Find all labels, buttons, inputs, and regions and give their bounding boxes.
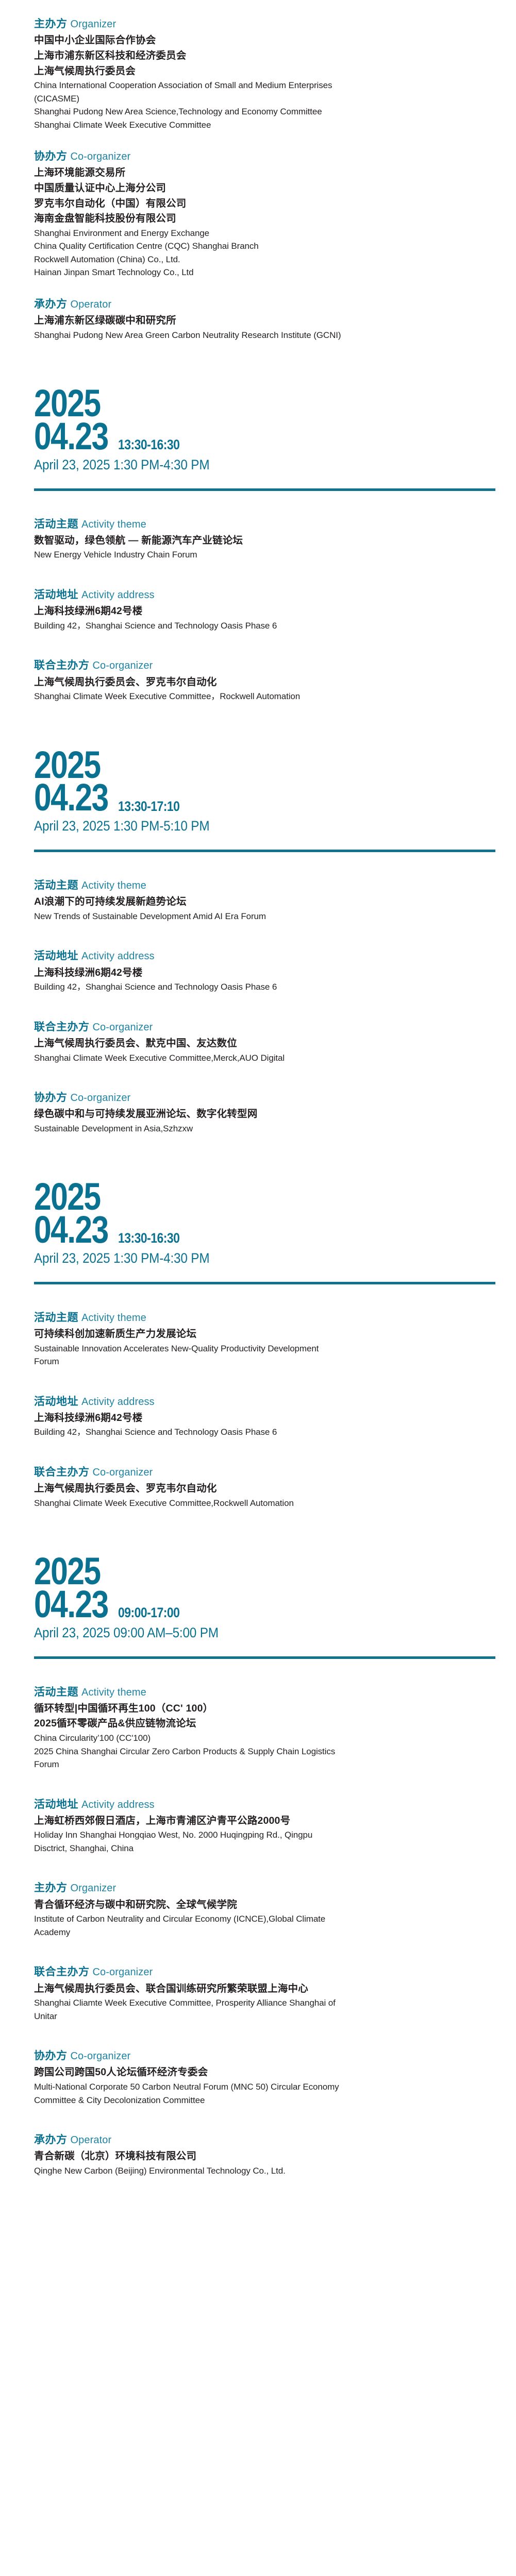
session-2-date: 2025 04.23 13:30-17:10 April 23, 2025 1:… (34, 749, 485, 834)
session-2-divider (34, 850, 495, 852)
session-4-group-1-en-0: Shanghai Cliamte Week Executive Committe… (34, 1996, 485, 2010)
session-1-group-0-label: 联合主办方Co-organizer (34, 659, 485, 672)
session-2-theme-en-0: New Trends of Sustainable Development Am… (34, 910, 485, 923)
session-3-theme-en-1: Forum (34, 1355, 485, 1368)
session-2-group-0-label-en: Co-organizer (93, 1022, 153, 1033)
organizer-cn-0: 中国中小企业国际合作协会 (34, 33, 485, 48)
session-3-address-label-cn: 活动地址 (34, 1396, 78, 1408)
session-4-theme-en-0: China Circularity’100 (CC'100) (34, 1732, 485, 1745)
session-1-group-0-en-0: Shanghai Climate Week Executive Committe… (34, 690, 485, 703)
organizer-section: 主办方Organizer 中国中小企业国际合作协会 上海市浦东新区科技和经济委员… (34, 18, 485, 131)
session-1-date-row: 04.23 13:30-16:30 (34, 420, 485, 453)
session-2-group-0-cn-0: 上海气候周执行委员会、默克中国、友达数位 (34, 1036, 485, 1052)
session-3-theme-label: 活动主题Activity theme (34, 1311, 485, 1325)
event-schedule-page: 主办方Organizer 中国中小企业国际合作协会 上海市浦东新区科技和经济委员… (0, 0, 516, 2576)
session-3-address: 活动地址Activity address 上海科技绿洲6期42号楼 Buildi… (34, 1395, 485, 1439)
spacer (34, 282, 485, 298)
session-1-address-label: 活动地址Activity address (34, 588, 485, 602)
spacer (34, 1371, 485, 1395)
spacer (34, 2026, 485, 2049)
session-4-theme-label-en: Activity theme (81, 1687, 146, 1698)
session-4-group-1-label-cn: 联合主办方 (34, 1966, 90, 1978)
session-1-address-en-0: Building 42，Shanghai Science and Technol… (34, 619, 485, 633)
session-4-group-3-cn-0: 青合新碳（北京）环境科技有限公司 (34, 2149, 485, 2164)
session-2-theme-label-cn: 活动主题 (34, 879, 78, 891)
session-3-time: 13:30-16:30 (118, 1232, 179, 1246)
session-2-theme-cn-0: AI浪潮下的可持续发展新趋势论坛 (34, 894, 485, 910)
session-4-address-en-0: Holiday Inn Shanghai Hongqiao West, No. … (34, 1828, 485, 1842)
session-1-address-label-cn: 活动地址 (34, 589, 78, 601)
session-4-group-2-label-cn: 协办方 (34, 2050, 68, 2062)
session-4-group-0-label-cn: 主办方 (34, 1882, 68, 1894)
session-4-group-0-cn-0: 青合循环经济与碳中和研究院、全球气候学院 (34, 1897, 485, 1913)
spacer (34, 345, 485, 383)
session-2-group-1-label-en: Co-organizer (71, 1092, 131, 1104)
session-4-group-2-en-0: Multi-National Corporate 50 Carbon Neutr… (34, 2080, 485, 2094)
top-co-organizer-label-cn: 协办方 (34, 150, 68, 162)
top-operator-label: 承办方Operator (34, 298, 485, 311)
spacer (34, 635, 485, 659)
session-4-time: 09:00-17:00 (118, 1607, 179, 1620)
organizer-cn-1: 上海市浦东新区科技和经济委员会 (34, 48, 485, 64)
session-2-group-1-label-cn: 协办方 (34, 1092, 68, 1104)
session-4-group-3: 承办方Operator 青合新碳（北京）环境科技有限公司 Qinghe New … (34, 2133, 485, 2177)
session-4-address-label: 活动地址Activity address (34, 1798, 485, 1811)
session-4-group-2-cn-0: 跨国公司跨国50人论坛循环经济专委会 (34, 2065, 485, 2080)
session-4-group-1-label-en: Co-organizer (93, 1967, 153, 1978)
session-2-date-row: 04.23 13:30-17:10 (34, 781, 485, 814)
session-4-group-0-label-en: Organizer (71, 1883, 116, 1894)
session-4-theme-cn-0: 循环转型|中国循环再生100（CC' 100） (34, 1701, 485, 1717)
session-2-address-cn-0: 上海科技绿洲6期42号楼 (34, 965, 485, 981)
session-4-month-day: 04.23 (34, 1588, 108, 1621)
session-3-address-cn-0: 上海科技绿洲6期42号楼 (34, 1411, 485, 1426)
spacer (34, 1858, 485, 1882)
session-2-address-label-cn: 活动地址 (34, 950, 78, 962)
session-2-month-day: 04.23 (34, 781, 108, 814)
spacer (34, 2110, 485, 2133)
session-2-group-0-en-0: Shanghai Climate Week Executive Committe… (34, 1052, 485, 1065)
session-1-month-day: 04.23 (34, 420, 108, 453)
spacer (34, 926, 485, 950)
session-2-group-0-label-cn: 联合主办方 (34, 1021, 90, 1033)
session-4-theme-label-cn: 活动主题 (34, 1686, 78, 1698)
session-3-address-label: 活动地址Activity address (34, 1395, 485, 1409)
session-3-address-en-0: Building 42，Shanghai Science and Technol… (34, 1426, 485, 1439)
spacer (34, 1067, 485, 1091)
session-3-divider (34, 1282, 495, 1284)
session-4-group-0-en-0: Institute of Carbon Neutrality and Circu… (34, 1912, 485, 1926)
spacer (34, 134, 485, 150)
session-2-address-label: 活动地址Activity address (34, 950, 485, 963)
session-4-date: 2025 04.23 09:00-17:00 April 23, 2025 09… (34, 1555, 485, 1640)
organizer-label-cn: 主办方 (34, 18, 68, 30)
session-2-group-0: 联合主办方Co-organizer 上海气候周执行委员会、默克中国、友达数位 S… (34, 1021, 485, 1064)
session-4-group-2-label-en: Co-organizer (71, 2050, 131, 2062)
spacer (34, 565, 485, 588)
session-1-theme: 活动主题Activity theme 数智驱动，绿色领航 — 新能源汽车产业链论… (34, 518, 485, 562)
spacer (34, 706, 485, 744)
top-co-organizer-cn-2: 罗克韦尔自动化（中国）有限公司 (34, 196, 485, 212)
organizer-en-3: Shanghai Climate Week Executive Committe… (34, 118, 485, 132)
session-4-address-en-1: Disctrict, Shanghai, China (34, 1842, 485, 1855)
organizer-en-2: Shanghai Pudong New Area Science,Technol… (34, 105, 485, 118)
session-3-month-day: 04.23 (34, 1213, 108, 1246)
session-2-time: 13:30-17:10 (118, 801, 179, 814)
session-1-group-0-cn-0: 上海气候周执行委员会、罗克韦尔自动化 (34, 675, 485, 690)
session-2-theme-label: 活动主题Activity theme (34, 879, 485, 892)
session-3-date-en: April 23, 2025 1:30 PM-4:30 PM (34, 1250, 440, 1266)
spacer (34, 1942, 485, 1965)
session-1-theme-label: 活动主题Activity theme (34, 518, 485, 531)
session-4-group-1-label: 联合主办方Co-organizer (34, 1965, 485, 1979)
session-4-group-2-en-1: Committee & City Decolonization Committe… (34, 2094, 485, 2107)
session-4-theme: 活动主题Activity theme 循环转型|中国循环再生100（CC' 10… (34, 1686, 485, 1771)
session-2-address-en-0: Building 42，Shanghai Science and Technol… (34, 980, 485, 994)
top-co-organizer-en-3: Hainan Jinpan Smart Technology Co., Ltd (34, 266, 485, 279)
session-4-theme-cn-1: 2025循环零碳产品&供应链物流论坛 (34, 1716, 485, 1732)
session-1-group-0-label-cn: 联合主办方 (34, 659, 90, 671)
session-4-date-row: 04.23 09:00-17:00 (34, 1588, 485, 1621)
session-2-address-label-en: Activity address (81, 951, 155, 962)
spacer (34, 1513, 485, 1551)
session-1-theme-cn-0: 数智驱动，绿色领航 — 新能源汽车产业链论坛 (34, 533, 485, 549)
session-1-address-label-en: Activity address (81, 589, 155, 601)
session-1-theme-label-en: Activity theme (81, 519, 146, 530)
session-2-group-1-label: 协办方Co-organizer (34, 1091, 485, 1105)
session-1-address-cn-0: 上海科技绿洲6期42号楼 (34, 604, 485, 619)
session-1-divider (34, 488, 495, 491)
content-container: 主办方Organizer 中国中小企业国际合作协会 上海市浦东新区科技和经济委员… (0, 18, 516, 2177)
organizer-en-0: China International Cooperation Associat… (34, 79, 485, 92)
spacer (34, 1442, 485, 1466)
session-3-date-row: 04.23 13:30-16:30 (34, 1213, 485, 1246)
session-3-group-0-cn-0: 上海气候周执行委员会、罗克韦尔自动化 (34, 1481, 485, 1497)
top-operator-cn-0: 上海浦东新区绿碳碳中和研究所 (34, 313, 485, 329)
top-co-organizer-en-0: Shanghai Environment and Energy Exchange (34, 227, 485, 240)
top-operator-section: 承办方Operator 上海浦东新区绿碳碳中和研究所 Shanghai Pudo… (34, 298, 485, 342)
session-1-date: 2025 04.23 13:30-16:30 April 23, 2025 1:… (34, 387, 485, 472)
organizer-en-1: (CICASME) (34, 92, 485, 106)
session-2-address: 活动地址Activity address 上海科技绿洲6期42号楼 Buildi… (34, 950, 485, 993)
top-co-organizer-en-2: Rockwell Automation (China) Co., Ltd. (34, 253, 485, 266)
session-3-theme: 活动主题Activity theme 可持续科创加速新质生产力发展论坛 Sust… (34, 1311, 485, 1368)
session-4-group-0-en-1: Academy (34, 1926, 485, 1939)
session-4-group-3-en-0: Qinghe New Carbon (Beijing) Environmenta… (34, 2164, 485, 2178)
session-4-address-label-en: Activity address (81, 1799, 155, 1810)
session-2-group-1-cn-0: 绿色碳中和与可持续发展亚洲论坛、数字化转型网 (34, 1107, 485, 1122)
session-4-group-3-label-cn: 承办方 (34, 2134, 68, 2146)
top-co-organizer-en-1: China Quality Certification Centre (CQC)… (34, 240, 485, 253)
session-1-time: 13:30-16:30 (118, 439, 179, 452)
session-2-theme: 活动主题Activity theme AI浪潮下的可持续发展新趋势论坛 New … (34, 879, 485, 923)
top-co-organizer-cn-0: 上海环境能源交易所 (34, 165, 485, 181)
session-3-group-0-label: 联合主办方Co-organizer (34, 1466, 485, 1479)
spacer (34, 997, 485, 1021)
top-operator-en-0: Shanghai Pudong New Area Green Carbon Ne… (34, 329, 485, 342)
session-2-group-0-label: 联合主办方Co-organizer (34, 1021, 485, 1034)
session-1-group-0-label-en: Co-organizer (93, 660, 153, 671)
session-4-theme-en-2: Forum (34, 1758, 485, 1771)
session-3-theme-en-0: Sustainable Innovation Accelerates New-Q… (34, 1342, 485, 1355)
organizer-label-en: Organizer (71, 19, 116, 30)
top-operator-label-en: Operator (71, 299, 112, 310)
top-operator-label-cn: 承办方 (34, 298, 68, 310)
session-4-group-1: 联合主办方Co-organizer 上海气候周执行委员会、联合国训练研究所繁荣联… (34, 1965, 485, 2023)
top-co-organizer-cn-3: 海南金盘智能科技股份有限公司 (34, 211, 485, 227)
session-2-date-en: April 23, 2025 1:30 PM-5:10 PM (34, 818, 440, 834)
top-co-organizer-label: 协办方Co-organizer (34, 150, 485, 163)
session-1-date-en: April 23, 2025 1:30 PM-4:30 PM (34, 457, 440, 473)
session-4-group-1-cn-0: 上海气候周执行委员会、联合国训练研究所繁荣联盟上海中心 (34, 1981, 485, 1997)
session-4-address: 活动地址Activity address 上海虹桥西郊假日酒店，上海市青浦区沪青… (34, 1798, 485, 1855)
session-4-theme-en-1: 2025 China Shanghai Circular Zero Carbon… (34, 1745, 485, 1758)
session-4-group-3-label-en: Operator (71, 2134, 112, 2146)
session-4-group-0-label: 主办方Organizer (34, 1882, 485, 1895)
session-3-date: 2025 04.23 13:30-16:30 April 23, 2025 1:… (34, 1180, 485, 1266)
session-1-theme-en-0: New Energy Vehicle Industry Chain Forum (34, 548, 485, 562)
session-3-theme-label-cn: 活动主题 (34, 1312, 78, 1324)
session-3-group-0: 联合主办方Co-organizer 上海气候周执行委员会、罗克韦尔自动化 Sha… (34, 1466, 485, 1510)
session-4-group-0: 主办方Organizer 青合循环经济与碳中和研究院、全球气候学院 Instit… (34, 1882, 485, 1939)
session-3-group-0-label-en: Co-organizer (93, 1467, 153, 1478)
session-1-address: 活动地址Activity address 上海科技绿洲6期42号楼 Buildi… (34, 588, 485, 632)
spacer (34, 1774, 485, 1798)
session-4-group-2-label: 协办方Co-organizer (34, 2049, 485, 2063)
session-4-address-label-cn: 活动地址 (34, 1799, 78, 1810)
session-4-address-cn-0: 上海虹桥西郊假日酒店，上海市青浦区沪青平公路2000号 (34, 1814, 485, 1829)
session-3-group-0-en-0: Shanghai Climate Week Executive Committe… (34, 1497, 485, 1510)
session-4-group-1-en-1: Unitar (34, 2010, 485, 2023)
session-3-theme-label-en: Activity theme (81, 1312, 146, 1324)
session-3-address-label-en: Activity address (81, 1396, 155, 1408)
session-2-group-1-en-0: Sustainable Development in Asia,Szhzxw (34, 1122, 485, 1136)
session-4-group-3-label: 承办方Operator (34, 2133, 485, 2147)
session-4-theme-label: 活动主题Activity theme (34, 1686, 485, 1699)
session-1-theme-label-cn: 活动主题 (34, 518, 78, 530)
session-4-divider (34, 1656, 495, 1659)
session-3-theme-cn-0: 可持续科创加速新质生产力发展论坛 (34, 1327, 485, 1342)
session-4-group-2: 协办方Co-organizer 跨国公司跨国50人论坛循环经济专委会 Multi… (34, 2049, 485, 2107)
organizer-label: 主办方Organizer (34, 18, 485, 31)
session-2-theme-label-en: Activity theme (81, 880, 146, 891)
spacer (34, 1138, 485, 1176)
top-co-organizer-section: 协办方Co-organizer 上海环境能源交易所 中国质量认证中心上海分公司 … (34, 150, 485, 279)
session-4-date-en: April 23, 2025 09:00 AM–5:00 PM (34, 1625, 440, 1641)
organizer-cn-2: 上海气候周执行委员会 (34, 64, 485, 79)
top-co-organizer-label-en: Co-organizer (71, 151, 131, 162)
top-co-organizer-cn-1: 中国质量认证中心上海分公司 (34, 181, 485, 196)
session-3-group-0-label-cn: 联合主办方 (34, 1466, 90, 1478)
session-2-group-1: 协办方Co-organizer 绿色碳中和与可持续发展亚洲论坛、数字化转型网 S… (34, 1091, 485, 1135)
session-1-group-0: 联合主办方Co-organizer 上海气候周执行委员会、罗克韦尔自动化 Sha… (34, 659, 485, 703)
